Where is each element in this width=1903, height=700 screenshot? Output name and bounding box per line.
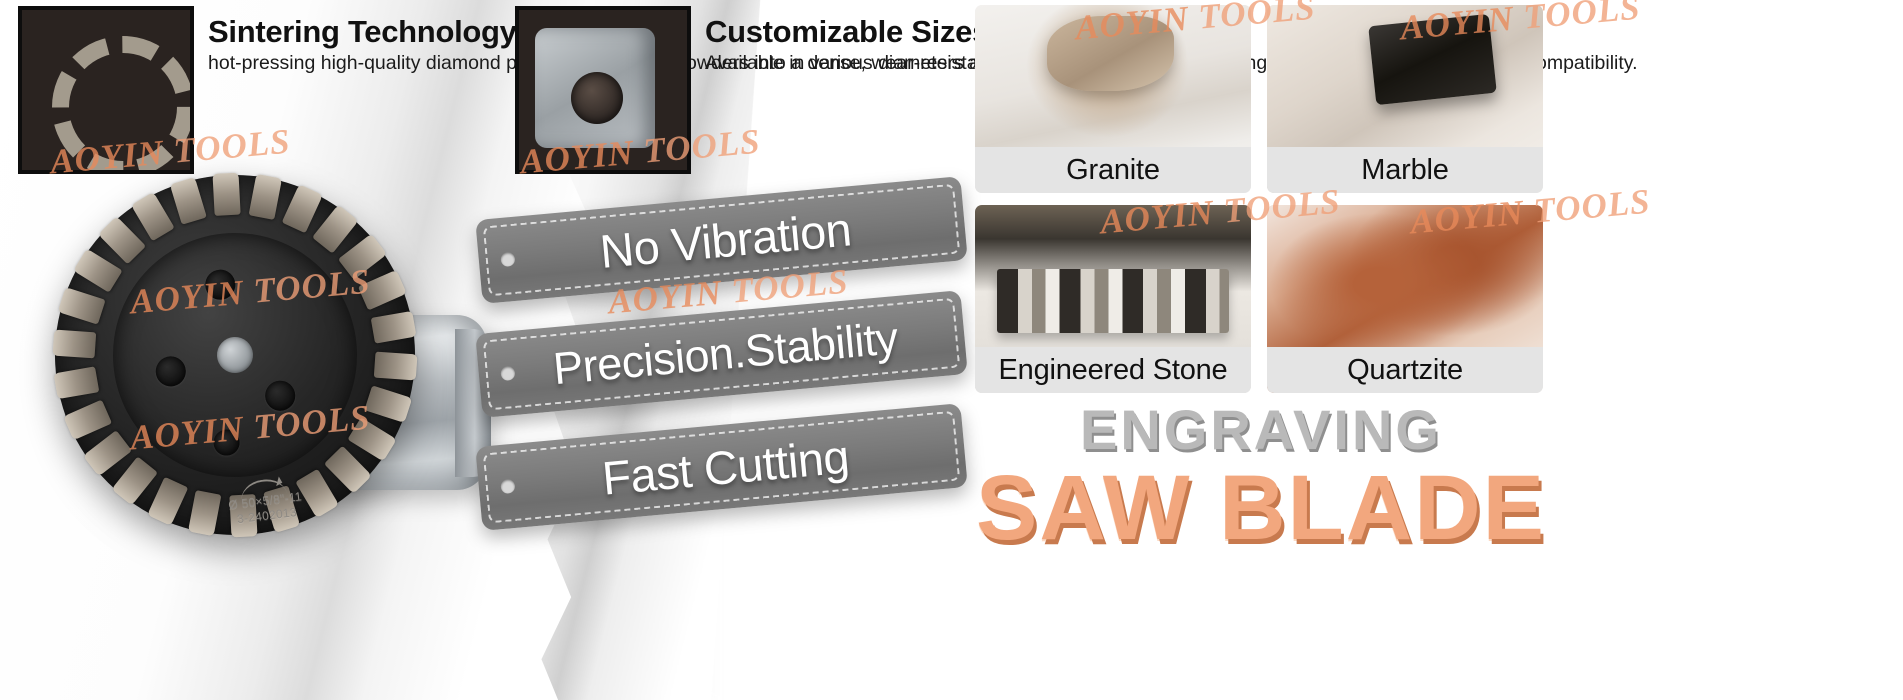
material-card-quartzite: Quartzite bbox=[1267, 205, 1543, 393]
blade-segment bbox=[58, 287, 106, 325]
disc-pin-hole bbox=[205, 269, 237, 301]
blade-segment bbox=[249, 174, 282, 220]
headline-engraving: ENGRAVING bbox=[975, 400, 1547, 460]
blade-segment bbox=[170, 177, 207, 225]
saw-blade-thumbnail-icon bbox=[18, 6, 194, 174]
blade-segment bbox=[111, 456, 158, 505]
threaded-hub-thumbnail-icon bbox=[515, 6, 691, 174]
blade-segment bbox=[364, 385, 412, 423]
blade-segment bbox=[312, 205, 359, 254]
blade-segment bbox=[98, 216, 146, 264]
banner-canvas: Ø 50×5/8"-11 3-2402013 Sintering Technol… bbox=[0, 0, 1903, 700]
disc-pin-hole bbox=[155, 356, 187, 388]
material-card-engineered-stone: Engineered Stone bbox=[975, 205, 1251, 393]
blade-segment bbox=[63, 400, 112, 441]
headline-block: ENGRAVING SAW BLADE bbox=[975, 400, 1547, 556]
disc-pin-hole bbox=[264, 380, 296, 412]
material-label: Marble bbox=[1267, 147, 1543, 193]
material-label: Granite bbox=[975, 147, 1251, 193]
disc-pin-hole bbox=[213, 429, 240, 456]
blade-segment bbox=[83, 430, 132, 476]
material-card-marble: Marble bbox=[1267, 5, 1543, 193]
blade-segment bbox=[53, 366, 99, 399]
material-card-granite: Granite bbox=[975, 5, 1251, 193]
application-material-grid: Granite Marble Engineered Stone Quartzit… bbox=[975, 5, 1547, 400]
material-label: Engineered Stone bbox=[975, 347, 1251, 393]
blade-segment bbox=[358, 270, 407, 311]
blade-segment bbox=[338, 234, 387, 280]
blade-segment bbox=[73, 249, 122, 293]
blade-segment bbox=[212, 173, 240, 216]
blade-segment bbox=[131, 192, 175, 241]
blade-segment bbox=[282, 184, 323, 233]
material-label: Quartzite bbox=[1267, 347, 1543, 393]
blade-segment bbox=[53, 330, 97, 359]
blade-segment bbox=[374, 352, 418, 381]
disc-arbor-bore bbox=[216, 336, 254, 374]
blade-segment bbox=[371, 311, 417, 344]
headline-saw-blade: SAW BLADE bbox=[975, 460, 1547, 556]
